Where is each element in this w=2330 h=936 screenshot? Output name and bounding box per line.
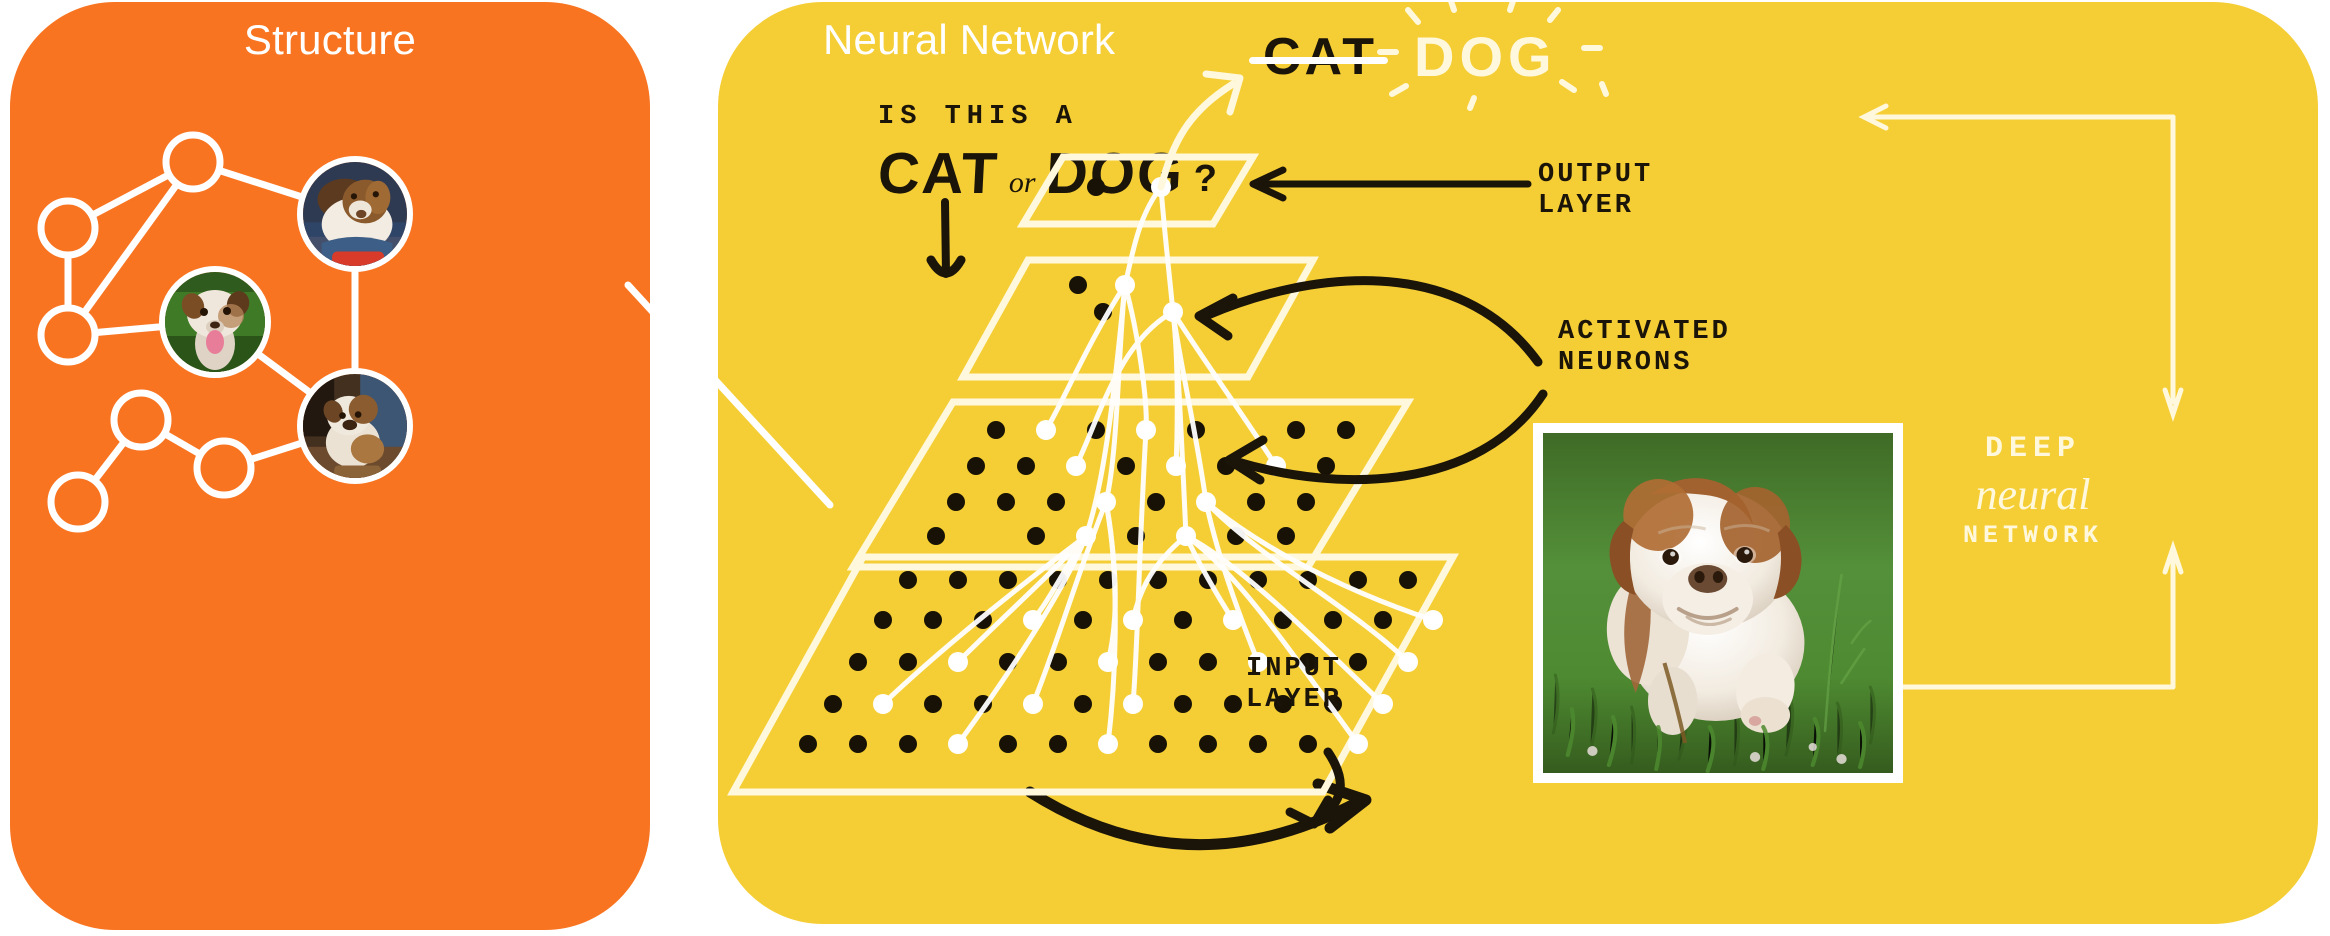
diagram-canvas: Structure — [0, 0, 2330, 936]
bulldog-photo-bottom — [303, 374, 407, 478]
input-layer-plane — [733, 557, 1453, 792]
hidden-layer-1-inactive-neurons — [927, 421, 1355, 545]
question-down-arrow — [931, 202, 961, 274]
graph-node[interactable] — [41, 308, 95, 362]
neural-network-panel-title: Neural Network — [718, 16, 1115, 64]
input-layer-pointer-arrow — [1290, 752, 1340, 824]
hidden-layer-1-active-neurons — [1036, 420, 1286, 546]
bulldog-photo-middle — [165, 272, 265, 372]
edge — [68, 162, 193, 228]
image-to-input-layer-arrow — [1030, 784, 1366, 845]
deep-neural-network-bracket — [1864, 106, 2181, 698]
question-block: IS THIS A CAT or DOG ? — [878, 102, 1298, 207]
output-layer-label: OUTPUT LAYER — [1538, 160, 1653, 222]
input-layer-label: INPUT LAYER — [1246, 654, 1342, 716]
structure-panel: Structure — [10, 2, 650, 930]
edge — [78, 420, 141, 502]
question-line-1: IS THIS A — [878, 102, 1298, 132]
sparkles-icon — [1362, 2, 1622, 140]
neural-network-panel: Neural Network IS THIS A CAT or DOG ? — [718, 2, 2318, 924]
deep-neural-network-script-word: neural — [1908, 469, 2158, 520]
bulldog-photo-top — [303, 162, 407, 266]
question-mark: ? — [1194, 158, 1217, 207]
question-dog-word: DOG — [1044, 140, 1186, 207]
graph-node[interactable] — [197, 441, 251, 495]
layer-connections — [883, 187, 1433, 744]
verdict-cat: CAT — [1263, 27, 1378, 87]
question-cat-word: CAT — [876, 140, 1000, 207]
graph-photo-node-middle[interactable] — [159, 266, 271, 378]
hidden-layer-1-plane — [853, 402, 1408, 567]
question-or-word: or — [1009, 166, 1036, 207]
graph-photo-node-bottom[interactable] — [297, 368, 413, 484]
question-line-2: CAT or DOG ? — [878, 140, 1298, 207]
input-image — [1543, 433, 1893, 773]
input-layer-active-neurons — [873, 610, 1443, 754]
graph-node[interactable] — [51, 475, 105, 529]
graph-node[interactable] — [166, 135, 220, 189]
activated-neurons-label: ACTIVATED NEURONS — [1558, 317, 1731, 379]
structure-panel-title: Structure — [10, 16, 650, 64]
bulldog-puppy-photo — [1543, 433, 1893, 773]
verdict-dog: DOG — [1414, 24, 1557, 89]
edge — [141, 420, 224, 468]
hidden-layer-2-active-neurons — [1115, 275, 1183, 322]
activated-neurons-pointer-arrows — [1199, 281, 1543, 480]
hidden-layer-2-plane — [963, 260, 1313, 377]
verdict-block: CAT DOG — [1263, 24, 1557, 89]
deep-neural-network-label: DEEP neural NETWORK — [1908, 432, 2158, 550]
input-image-frame[interactable] — [1533, 423, 1903, 783]
graph-node[interactable] — [41, 201, 95, 255]
hidden-layer-2-inactive-neurons — [1069, 276, 1112, 321]
graph-node[interactable] — [114, 393, 168, 447]
graph-photo-node-top[interactable] — [297, 156, 413, 272]
